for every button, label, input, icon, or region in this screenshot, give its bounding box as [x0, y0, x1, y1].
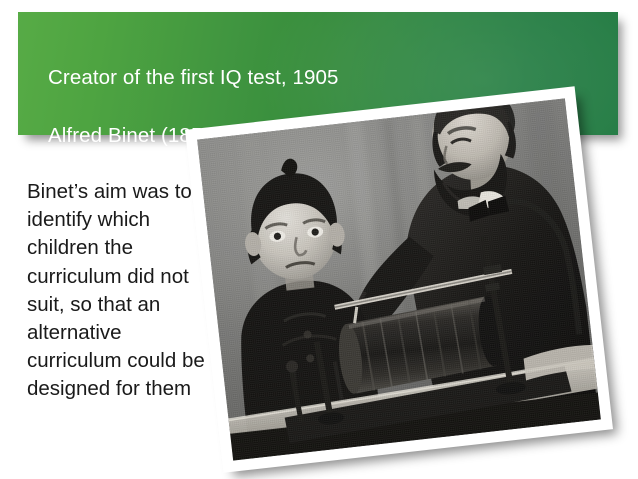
- photo-frame: [185, 86, 613, 473]
- body-paragraph: Binet’s aim was to identify which childr…: [27, 178, 205, 404]
- title-line-1: Creator of the first IQ test, 1905: [48, 63, 339, 92]
- slide-canvas: Creator of the first IQ test, 1905 Alfre…: [0, 0, 638, 479]
- photograph: [197, 98, 601, 460]
- historical-photograph-icon: [197, 98, 601, 460]
